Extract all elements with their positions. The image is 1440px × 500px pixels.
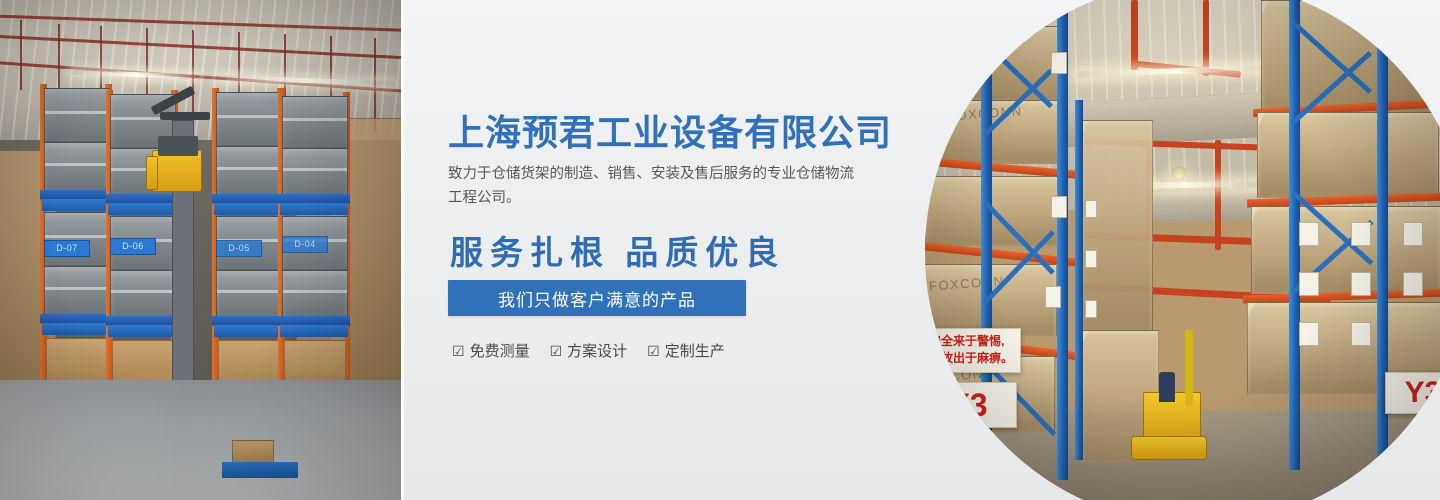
feature-item-free-measurement: ☑ 免费测量 (452, 340, 530, 361)
company-title: 上海预君工业设备有限公司 (448, 104, 892, 156)
feature-label: 定制生产 (665, 340, 725, 361)
right-warehouse-photo-circle: FOXCONN FOXCONN FOXCONN FOXCONN (925, 0, 1440, 500)
feature-item-solution-design: ☑ 方案设计 (550, 340, 628, 361)
right-warehouse-photo: FOXCONN FOXCONN FOXCONN FOXCONN (925, 0, 1440, 500)
photo-edge (401, 0, 404, 500)
feature-item-custom-production: ☑ 定制生产 (647, 340, 725, 361)
feature-label: 方案设计 (567, 340, 627, 361)
cta-button[interactable]: 我们只做客户满意的产品 (448, 280, 746, 316)
company-subtitle: 致力于仓储货架的制造、销售、安装及售后服务的专业仓储物流工程公司。 (448, 163, 863, 211)
left-warehouse-photo: D-07 D-06 (0, 0, 404, 500)
company-slogan: 服务扎根 品质优良 (450, 226, 785, 274)
check-icon: ☑ (550, 344, 563, 358)
check-icon: ☑ (647, 344, 660, 358)
feature-label: 免费测量 (470, 340, 530, 361)
feature-list: ☑ 免费测量 ☑ 方案设计 ☑ 定制生产 (452, 340, 725, 361)
hero-banner: D-07 D-06 (0, 0, 1440, 500)
photo-vignette (0, 0, 404, 500)
photo-vignette (925, 0, 1440, 500)
check-icon: ☑ (452, 344, 465, 358)
banner-content: 上海预君工业设备有限公司 致力于仓储货架的制造、销售、安装及售后服务的专业仓储物… (448, 0, 918, 500)
